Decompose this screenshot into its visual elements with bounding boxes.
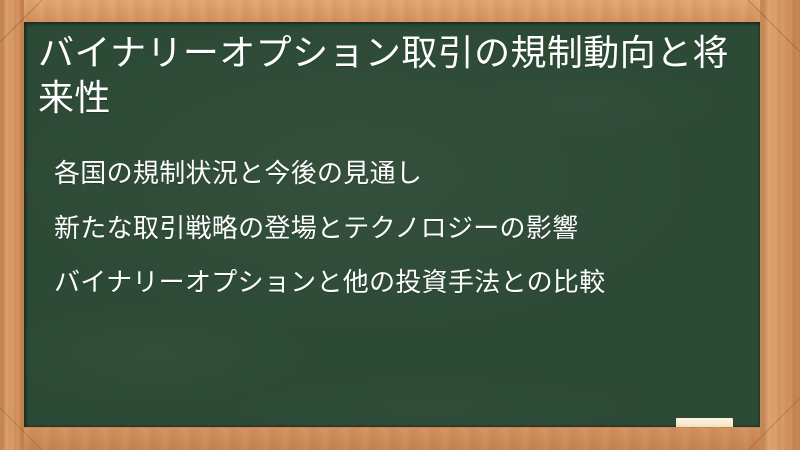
chalkboard-surface: バイナリーオプション取引の規制動向と将来性 各国の規制状況と今後の見通し 新たな… bbox=[24, 22, 760, 427]
slide-canvas: バイナリーオプション取引の規制動向と将来性 各国の規制状況と今後の見通し 新たな… bbox=[0, 0, 800, 450]
slide-title: バイナリーオプション取引の規制動向と将来性 bbox=[38, 30, 730, 121]
frame-rail-top bbox=[0, 0, 800, 22]
chalk-stick-icon bbox=[676, 418, 733, 427]
bullet-item: バイナリーオプションと他の投資手法との比較 bbox=[54, 267, 736, 299]
bullet-item: 各国の規制状況と今後の見通し bbox=[54, 158, 736, 190]
frame-rail-right bbox=[760, 0, 800, 450]
slide-bullet-list: 各国の規制状況と今後の見通し 新たな取引戦略の登場とテクノロジーの影響 バイナリ… bbox=[54, 158, 736, 299]
frame-rail-left bbox=[0, 0, 24, 450]
frame-rail-bottom bbox=[0, 428, 800, 450]
bullet-item: 新たな取引戦略の登場とテクノロジーの影響 bbox=[54, 213, 736, 245]
